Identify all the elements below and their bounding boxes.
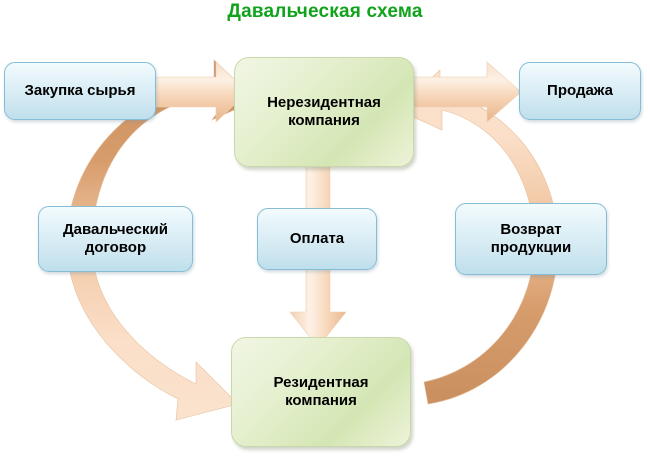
node-zakupka-syrya[interactable]: Закупка сырья xyxy=(4,62,156,120)
node-label: Давальческий договор xyxy=(39,221,192,256)
node-label: Резидентная компания xyxy=(232,374,410,409)
node-label: Возврат продукции xyxy=(456,221,606,256)
node-nerezidentnaya-kompaniya[interactable]: Нерезидентная компания xyxy=(234,57,414,167)
node-rezidentnaya-kompaniya[interactable]: Резидентная компания xyxy=(231,337,411,447)
node-label: Продажа xyxy=(541,82,619,100)
node-prodazha[interactable]: Продажа xyxy=(519,62,641,120)
diagram-canvas: Давальческая схема xyxy=(0,0,650,459)
node-label: Закупка сырья xyxy=(19,82,142,100)
node-davalcheskiy-dogovor[interactable]: Давальческий договор xyxy=(38,206,193,272)
node-vozvrat-produkcii[interactable]: Возврат продукции xyxy=(455,203,607,275)
node-label: Оплата xyxy=(284,230,350,248)
node-oplata[interactable]: Оплата xyxy=(257,208,377,270)
node-label: Нерезидентная компания xyxy=(235,94,413,129)
